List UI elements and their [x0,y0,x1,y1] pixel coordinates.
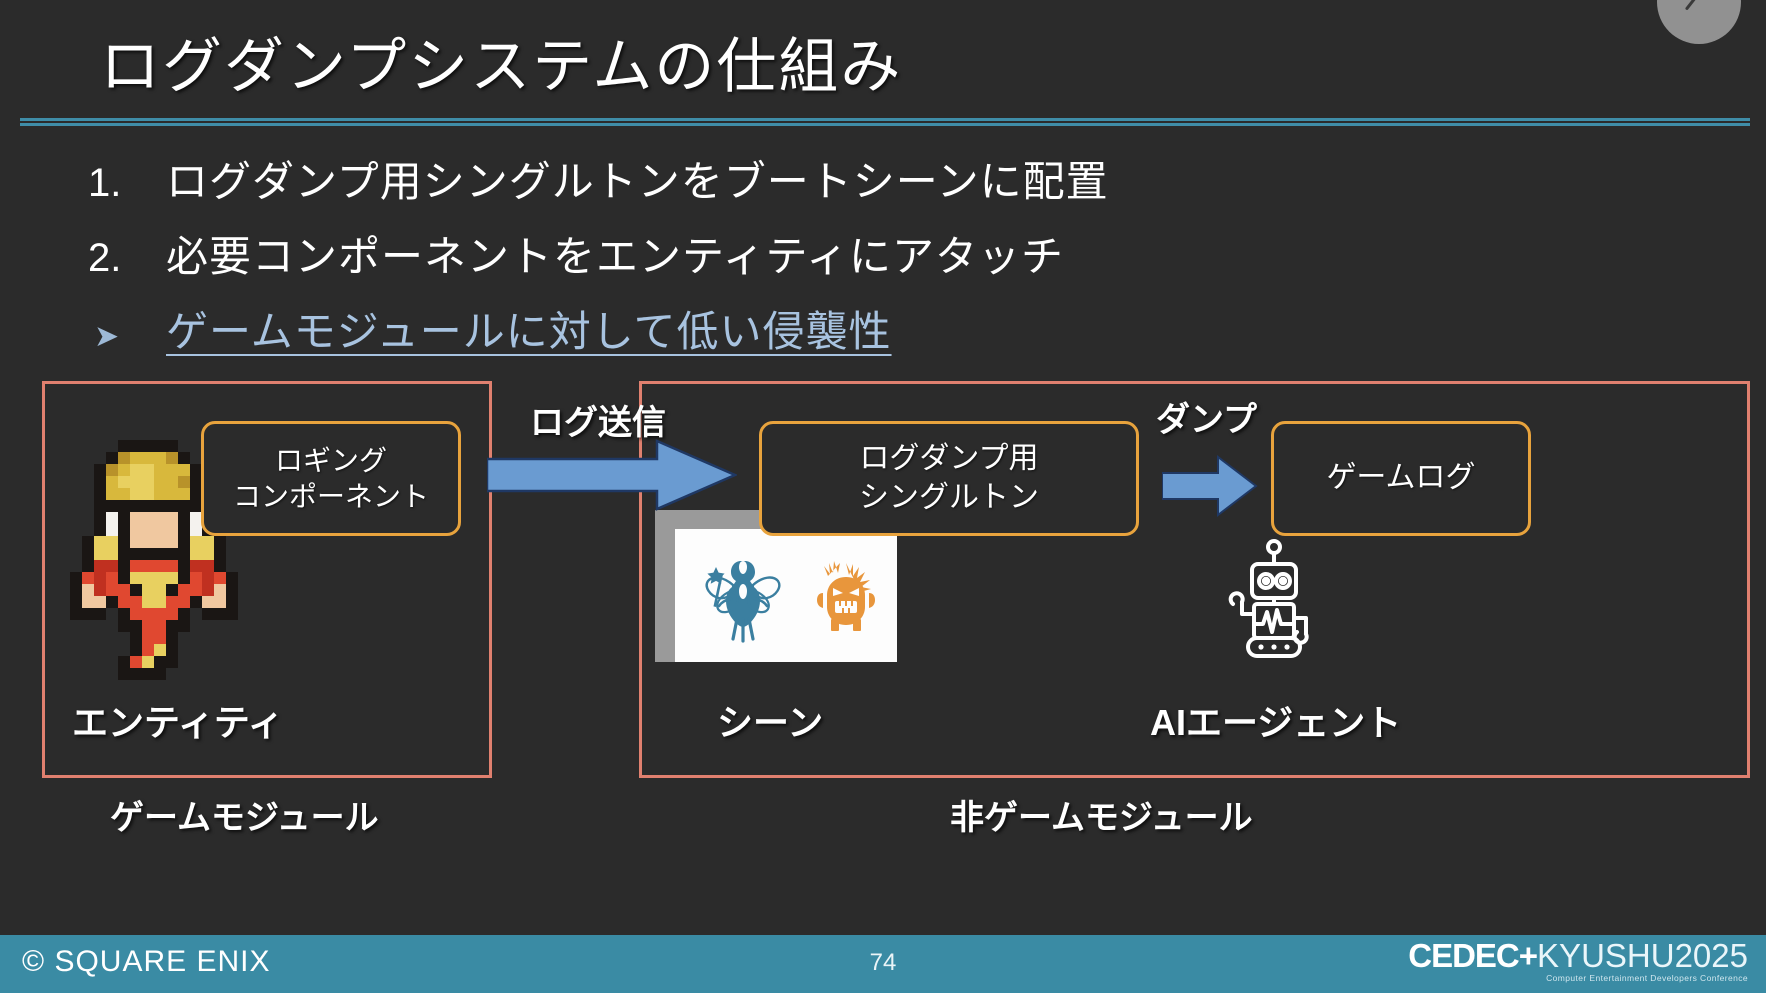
cursor-blob-icon [1657,0,1741,44]
bullet-item-2: 2. 必要コンポーネントをエンティティにアタッチ [88,223,1388,284]
footer-bar: © SQUARE ENIX 74 CEDEC+KYUSHU2025 Comput… [0,935,1766,993]
box-line-1: ログダンプ用 [859,440,1038,478]
box-game-log: ゲームログ [1271,421,1531,536]
monster-icon [815,559,877,633]
bullet-list: 1. ログダンプ用シングルトンをブートシーンに配置 2. 必要コンポーネントをエ… [88,148,1388,373]
cedec-logo-tagline: Computer Entertainment Developers Confer… [1408,974,1748,983]
cedec-logo: CEDEC+KYUSHU2025 Computer Entertainment … [1408,939,1748,983]
scene-thumbnail-inner [675,529,897,662]
box-line-2: シングルトン [859,479,1039,517]
box-logging-component: ロギング コンポーネント [201,421,461,536]
slide-root: ログダンプシステムの仕組み 1. ログダンプ用シングルトンをブートシーンに配置 … [0,0,1766,993]
box-line-1: ゲームログ [1326,459,1475,497]
arrow-dump-icon [1162,455,1258,517]
bullet-text: 必要コンポーネントをエンティティにアタッチ [166,223,1064,284]
page-title: ログダンプシステムの仕組み [100,18,902,105]
module-caption-non-game: 非ゲームモジュール [950,790,1253,839]
arrow-bullet-icon: ➤ [88,319,166,354]
item-caption-scene: シーン [717,694,823,746]
module-caption-game: ゲームモジュール [110,790,379,839]
cedec-logo-sub: KYUSHU2025 [1537,937,1748,974]
title-divider [20,118,1750,126]
arrow-log-send-icon [487,439,737,511]
flow-label-dump: ダンプ [1156,392,1257,441]
bullet-item-sub: ➤ ゲームモジュールに対して低い侵襲性 [88,298,1388,359]
bullet-marker: 1. [88,161,166,206]
robot-icon [1226,538,1322,662]
box-line-1: ロギング [275,443,387,479]
bullet-text: ログダンプ用シングルトンをブートシーンに配置 [166,148,1109,209]
bullet-item-1: 1. ログダンプ用シングルトンをブートシーンに配置 [88,148,1388,209]
box-log-dump-singleton: ログダンプ用 シングルトン [759,421,1139,536]
box-line-2: コンポーネント [233,479,429,515]
bullet-marker: 2. [88,236,166,281]
cedec-logo-plus: + [1519,937,1537,974]
cedec-logo-main: CEDEC [1408,937,1519,974]
fairy-icon [703,547,783,647]
item-caption-ai-agent: AIエージェント [1150,694,1401,746]
flow-label-send: ログ送信 [530,395,666,444]
sub-bullet-text: ゲームモジュールに対して低い侵襲性 [166,298,892,359]
cursor-tick-icon [1685,0,1706,11]
item-caption-entity: エンティティ [72,694,284,746]
